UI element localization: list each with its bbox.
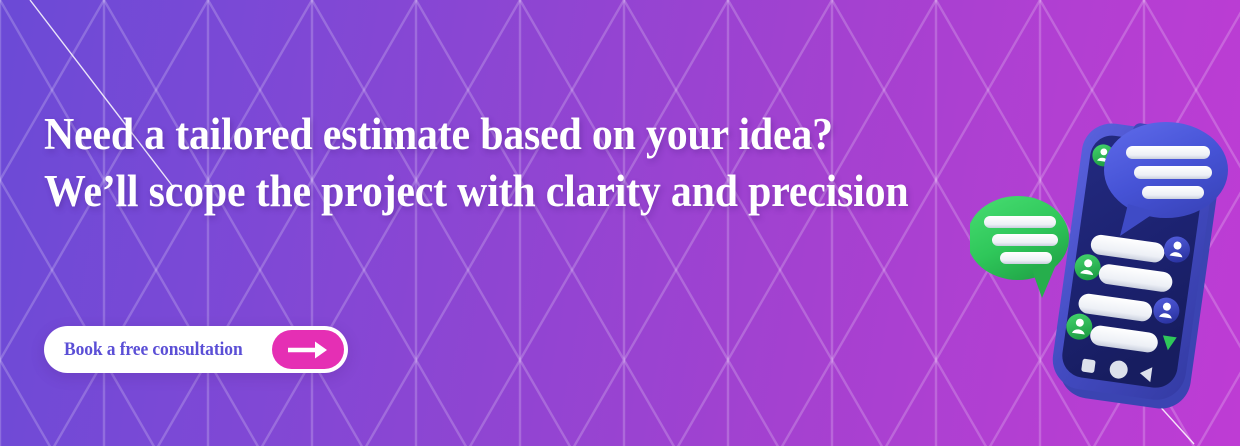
chat-phone-3d-illustration: [970, 112, 1240, 442]
promo-banner: Need a tailored estimate based on your i…: [0, 0, 1240, 446]
chat-bubble-blue: [1104, 122, 1228, 236]
headline-line-2: We’ll scope the project with clarity and…: [44, 163, 937, 220]
banner-headline: Need a tailored estimate based on your i…: [44, 106, 937, 220]
book-consultation-button[interactable]: Book a free consultation: [44, 326, 348, 373]
book-consultation-label: Book a free consultation: [64, 339, 255, 361]
arrow-right-icon[interactable]: [272, 330, 344, 369]
background-hex-pattern: [0, 0, 1240, 446]
accent-line-bottom-right: [1074, 316, 1214, 446]
chat-bubble-green: [970, 196, 1069, 298]
headline-line-1: Need a tailored estimate based on your i…: [44, 106, 937, 163]
